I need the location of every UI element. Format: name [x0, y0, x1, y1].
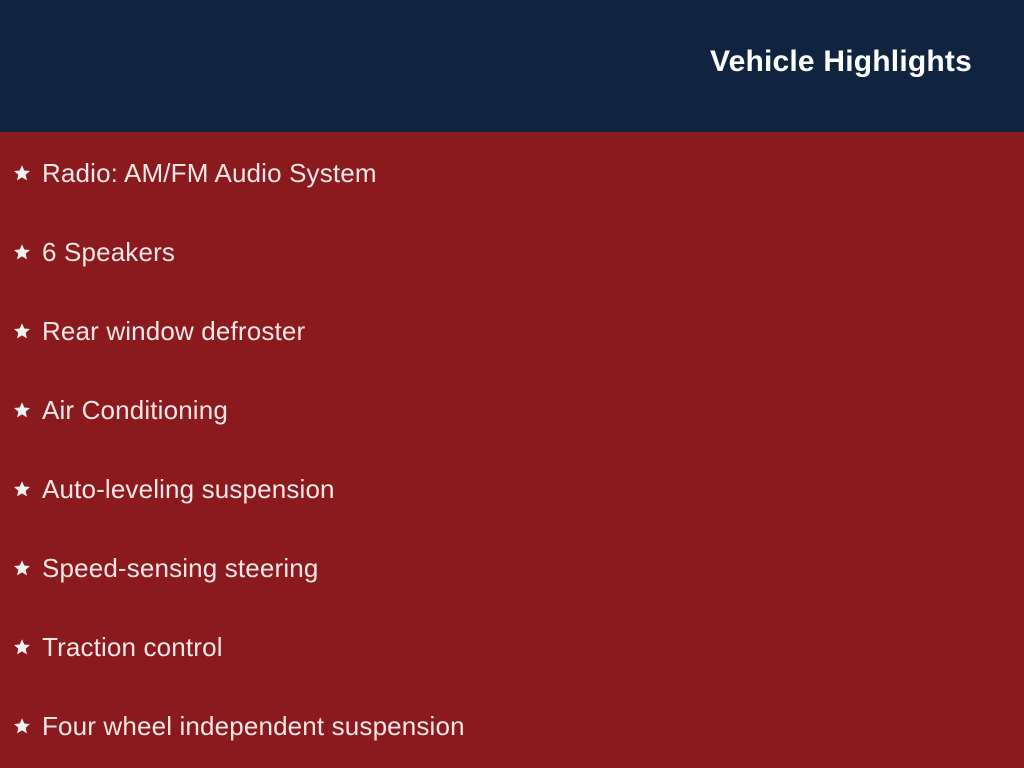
vehicle-highlights-list: Radio: AM/FM Audio System 6 Speakers Rea… — [0, 132, 1024, 768]
list-item-label: Rear window defroster — [42, 315, 305, 348]
list-item: Air Conditioning — [13, 390, 1024, 430]
list-item-label: Air Conditioning — [42, 394, 228, 427]
list-item-label: Traction control — [42, 631, 223, 664]
list-item-label: Speed-sensing steering — [42, 552, 318, 585]
star-icon — [13, 243, 31, 261]
star-icon — [13, 717, 31, 735]
list-item: Four wheel independent suspension — [13, 706, 1024, 746]
list-item-label: 6 Speakers — [42, 236, 175, 269]
list-item-label: Four wheel independent suspension — [42, 710, 465, 743]
star-icon — [13, 559, 31, 577]
list-item: Speed-sensing steering — [13, 548, 1024, 588]
page-title: Vehicle Highlights — [710, 44, 972, 80]
star-icon — [13, 480, 31, 498]
star-icon — [13, 322, 31, 340]
list-item: 6 Speakers — [13, 232, 1024, 272]
list-item: Auto-leveling suspension — [13, 469, 1024, 509]
list-item: Rear window defroster — [13, 311, 1024, 351]
list-item: Traction control — [13, 627, 1024, 667]
star-icon — [13, 638, 31, 656]
list-item-label: Auto-leveling suspension — [42, 473, 335, 506]
slide-header-band: Vehicle Highlights — [0, 0, 1024, 132]
star-icon — [13, 401, 31, 419]
slide-canvas: Vehicle Highlights Radio: AM/FM Audio Sy… — [0, 0, 1024, 768]
list-item-label: Radio: AM/FM Audio System — [42, 157, 377, 190]
star-icon — [13, 164, 31, 182]
list-item: Radio: AM/FM Audio System — [13, 153, 1024, 193]
